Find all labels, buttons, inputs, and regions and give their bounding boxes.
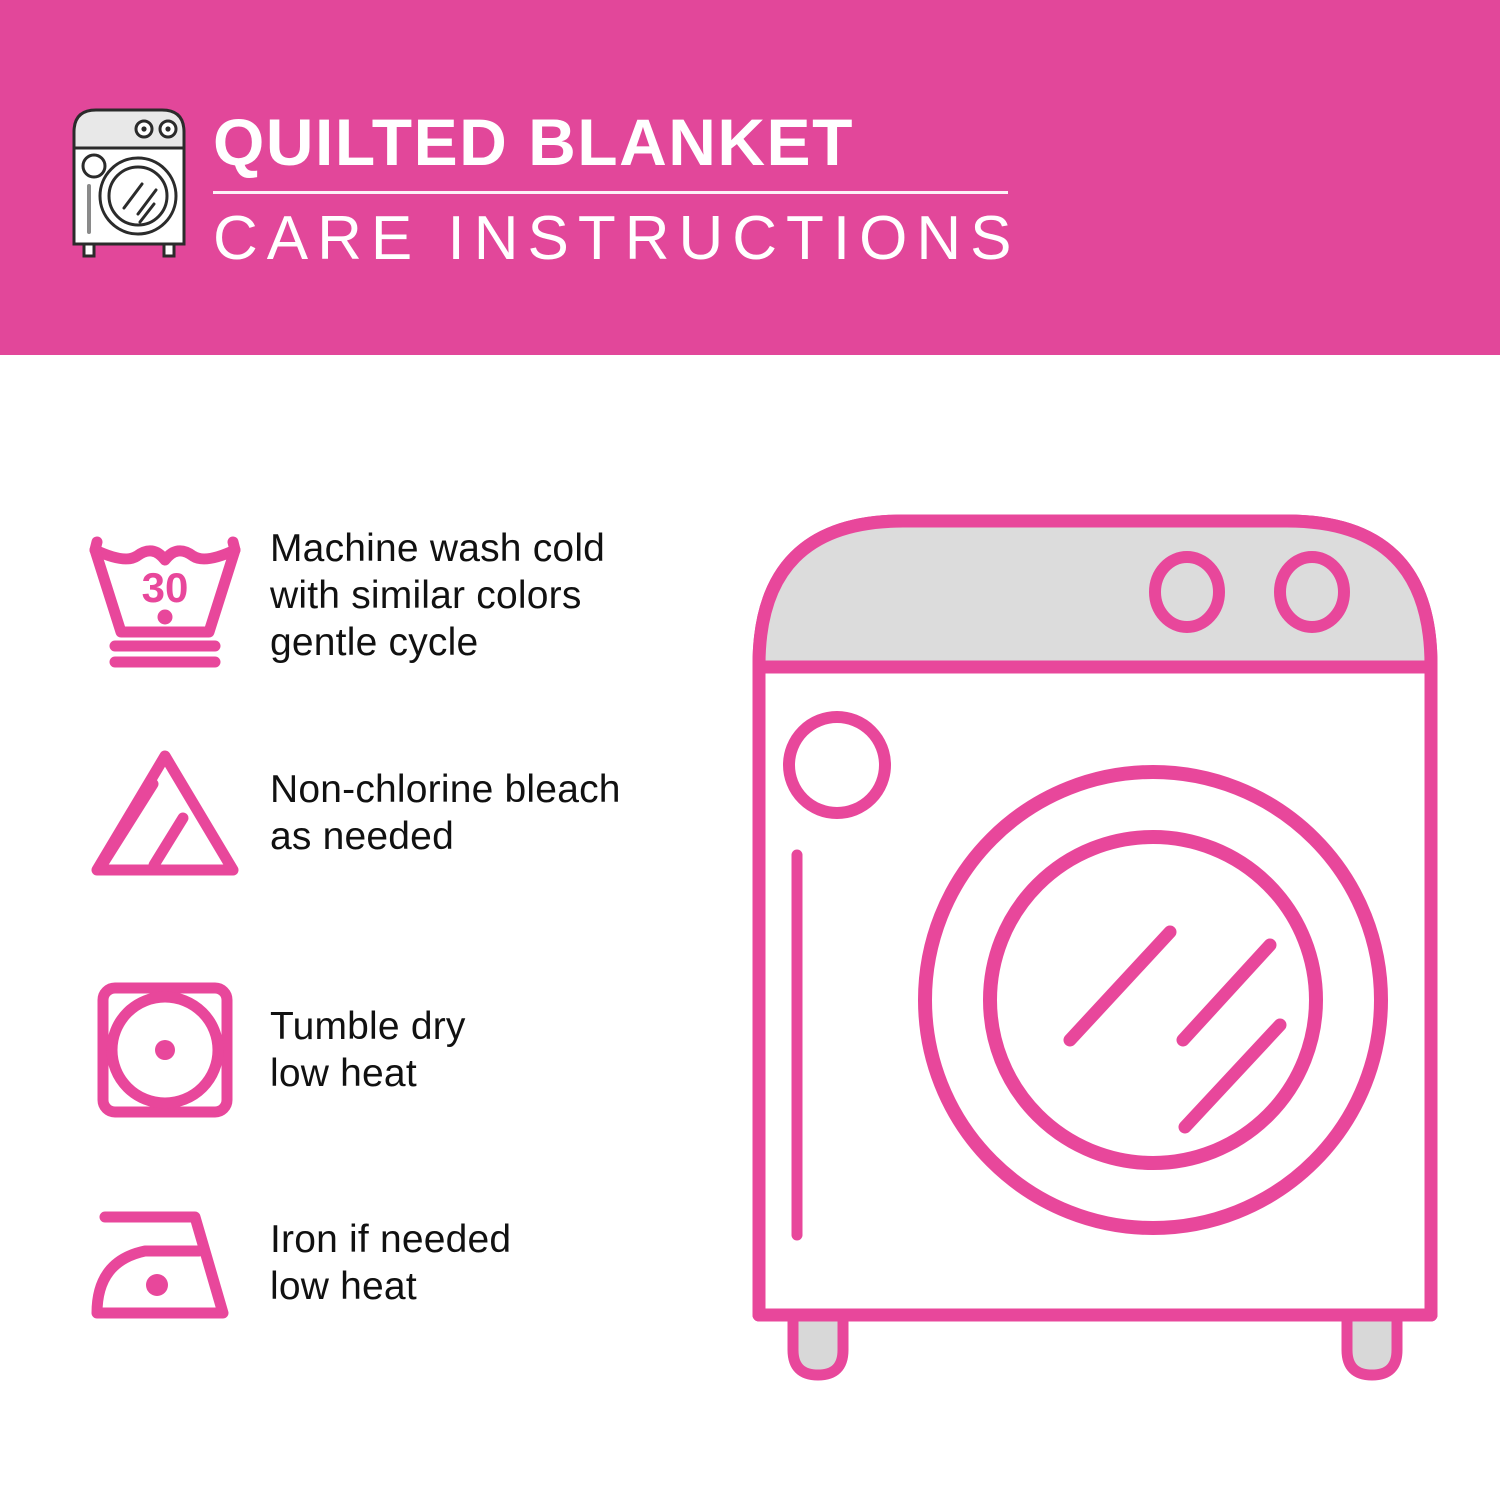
tumble-dry-low-icon: [60, 970, 270, 1130]
wash-temperature-value: 30: [142, 564, 189, 611]
title-divider: [213, 191, 1008, 194]
care-instruction-row: 30 Machine wash cold with similar colors…: [60, 505, 720, 685]
iron-low-heat-icon: [60, 1195, 270, 1330]
care-instruction-label: Iron if needed low heat: [270, 1216, 720, 1310]
header-text-block: QUILTED BLANKET CARE INSTRUCTIONS: [213, 105, 1043, 274]
care-instruction-row: Tumble dry low heat: [60, 965, 720, 1135]
page-title: QUILTED BLANKET: [213, 105, 1043, 179]
non-chlorine-bleach-triangle-icon: [60, 740, 270, 885]
page-subtitle: CARE INSTRUCTIONS: [213, 204, 1043, 274]
header-banner: QUILTED BLANKET CARE INSTRUCTIONS: [0, 0, 1500, 355]
care-instructions-page: QUILTED BLANKET CARE INSTRUCTIONS: [0, 0, 1500, 1500]
care-instruction-label: Machine wash cold with similar colors ge…: [270, 525, 720, 666]
care-instruction-row: Non-chlorine bleach as needed: [60, 730, 720, 895]
washing-machine-logo-icon: [62, 104, 202, 259]
care-instruction-row: Iron if needed low heat: [60, 1185, 720, 1340]
wash-tub-30-icon: 30: [60, 520, 270, 670]
front-load-washing-machine-illustration: [745, 495, 1445, 1425]
care-instruction-label: Tumble dry low heat: [270, 1003, 720, 1097]
care-instruction-label: Non-chlorine bleach as needed: [270, 766, 720, 860]
